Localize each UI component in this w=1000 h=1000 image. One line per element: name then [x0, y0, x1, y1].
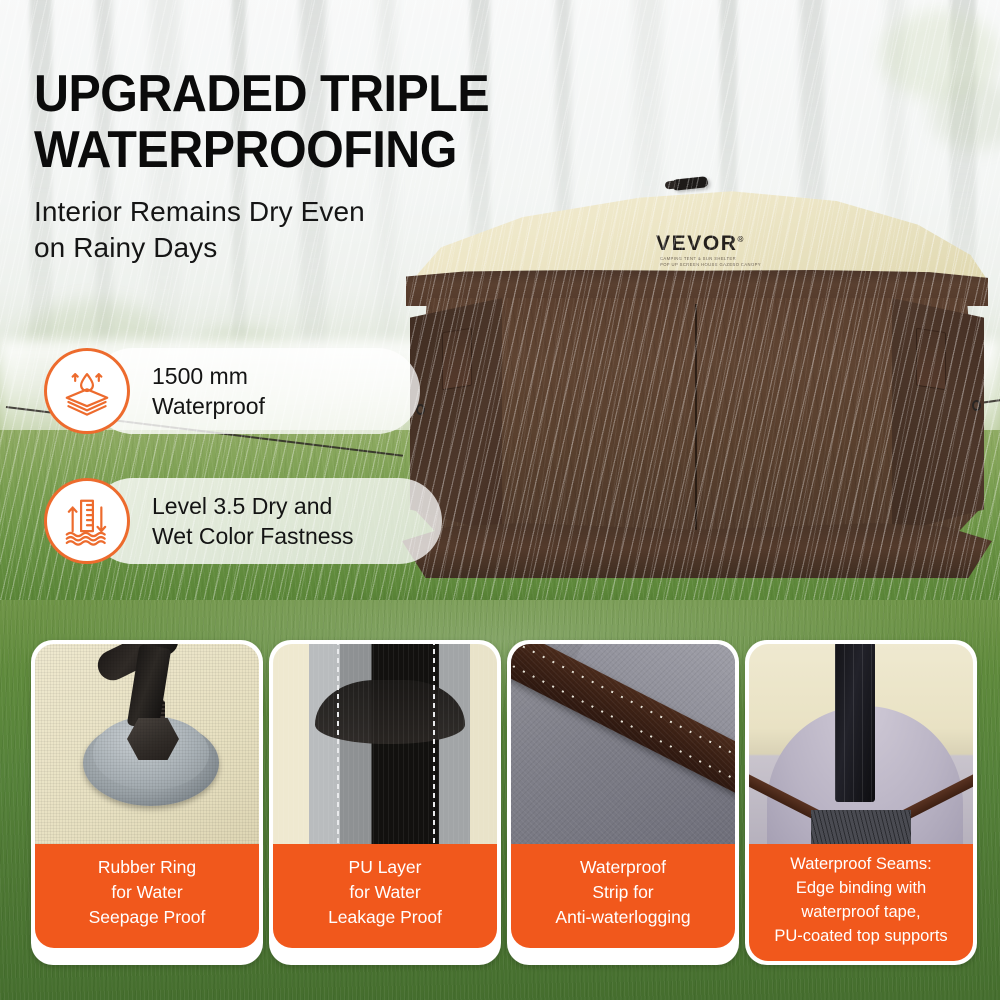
waterproof-seams-photo	[749, 644, 973, 844]
feature-pill-colorfastness: Level 3.5 Dry and Wet Color Fastness	[44, 478, 354, 564]
stitch-line-right	[433, 644, 435, 844]
card-caption: PU Layer for Water Leakage Proof	[273, 844, 497, 948]
waterproof-strip-photo	[511, 644, 735, 844]
grommet-right	[972, 400, 981, 411]
pu-coated-top-support	[835, 644, 875, 802]
detail-card-strip: Rubber Ring for Water Seepage Proof PU L…	[0, 600, 1000, 1000]
threaded-bolt	[135, 700, 165, 730]
stitch-line-left	[337, 644, 339, 844]
skirt-hem	[402, 522, 992, 578]
water-drop-layers-icon	[60, 364, 114, 418]
hero-scene: VEVOR® CAMPING TENT & SUN SHELTER POP UP…	[0, 0, 1000, 648]
page-title: UPGRADED TRIPLE WATERPROOFING	[34, 66, 518, 178]
feature-pill-waterproof: 1500 mm Waterproof	[44, 348, 265, 434]
roof-peak-hub	[672, 176, 709, 191]
fabric-fold	[562, 644, 735, 787]
headline-block: UPGRADED TRIPLE WATERPROOFING Interior R…	[34, 66, 554, 266]
metal-washer	[93, 716, 209, 790]
detail-card-waterproof-seams[interactable]: Waterproof Seams: Edge binding with wate…	[745, 640, 977, 965]
detail-card-pu-layer[interactable]: PU Layer for Water Leakage Proof	[269, 640, 501, 965]
door-zipper-seam	[695, 304, 697, 548]
brand-logo-text: VEVOR	[656, 232, 738, 255]
rubber-ring-outer	[83, 720, 219, 806]
detail-cards: Rubber Ring for Water Seepage Proof PU L…	[31, 640, 977, 965]
rolled-window-pocket-right	[916, 328, 946, 391]
brown-sealing-strip	[511, 644, 735, 812]
hex-nut	[127, 718, 179, 760]
product-infographic: VEVOR® CAMPING TENT & SUN SHELTER POP UP…	[0, 0, 1000, 1000]
mesh-vent	[811, 810, 911, 844]
rolled-window-pocket-left	[442, 328, 472, 391]
brand-logo: VEVOR®	[656, 232, 743, 256]
pu-coating-band	[315, 680, 465, 744]
color-fastness-scale-icon	[60, 494, 114, 548]
brand-fineprint: CAMPING TENT & SUN SHELTER POP UP SCREEN…	[660, 256, 840, 268]
detail-card-rubber-ring[interactable]: Rubber Ring for Water Seepage Proof	[31, 640, 263, 965]
feature-badge-circle	[44, 478, 130, 564]
card-caption: Waterproof Seams: Edge binding with wate…	[749, 844, 973, 961]
detail-card-waterproof-strip[interactable]: Waterproof Strip for Anti-waterlogging	[507, 640, 739, 965]
feature-label: 1500 mm Waterproof	[152, 361, 265, 421]
brand-registered-mark: ®	[738, 235, 744, 244]
card-caption: Rubber Ring for Water Seepage Proof	[35, 844, 259, 948]
page-subtitle: Interior Remains Dry Even on Rainy Days	[34, 194, 554, 266]
pole-bend	[93, 644, 183, 685]
feature-badge-circle	[44, 348, 130, 434]
pu-layer-stitching-photo	[273, 644, 497, 844]
feature-label: Level 3.5 Dry and Wet Color Fastness	[152, 491, 354, 551]
card-caption: Waterproof Strip for Anti-waterlogging	[511, 844, 735, 948]
rubber-ring-seal-photo	[35, 644, 259, 844]
tent-pole	[127, 644, 171, 730]
